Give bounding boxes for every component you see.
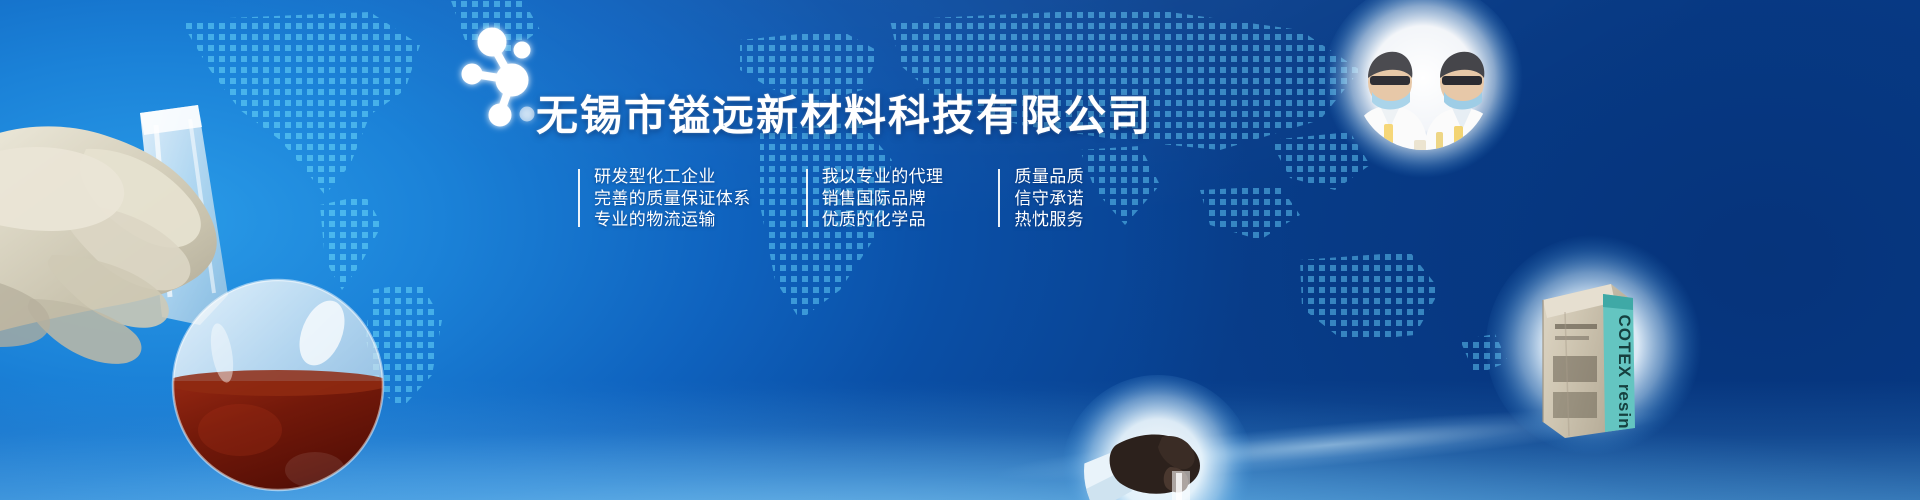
gloved-hand-flask-photo (0, 85, 420, 500)
slogan-line: 优质的化学品 (822, 209, 944, 231)
slogan-line: 信守承诺 (1014, 188, 1084, 210)
slogan-line: 专业的物流运输 (594, 209, 751, 231)
slogan-line: 销售国际品牌 (822, 188, 944, 210)
slogan-line: 研发型化工企业 (594, 166, 751, 188)
resin-sack-photo: COTEX resin (1483, 232, 1709, 458)
lab-technicians-photo (1318, 0, 1528, 192)
slogan-group: 研发型化工企业 完善的质量保证体系 专业的物流运输 我以专业的代理 销售国际品牌… (578, 166, 1084, 231)
slogan-line: 完善的质量保证体系 (594, 188, 751, 210)
svg-text:COTEX resin: COTEX resin (1615, 315, 1634, 430)
slogan-column-3: 质量品质 信守承诺 热忱服务 (998, 166, 1084, 231)
page-title: 无锡市镒远新材料科技有限公司 (536, 95, 1152, 137)
slogan-line: 质量品质 (1014, 166, 1084, 188)
blue-solution-flask-photo (1058, 375, 1258, 500)
slogan-line: 热忱服务 (1014, 209, 1084, 231)
company-banner: 无锡市镒远新材料科技有限公司 研发型化工企业 完善的质量保证体系 专业的物流运输… (0, 0, 1920, 500)
slogan-column-1: 研发型化工企业 完善的质量保证体系 专业的物流运输 (578, 166, 751, 231)
slogan-column-2: 我以专业的代理 销售国际品牌 优质的化学品 (806, 166, 944, 231)
slogan-line: 我以专业的代理 (822, 166, 944, 188)
